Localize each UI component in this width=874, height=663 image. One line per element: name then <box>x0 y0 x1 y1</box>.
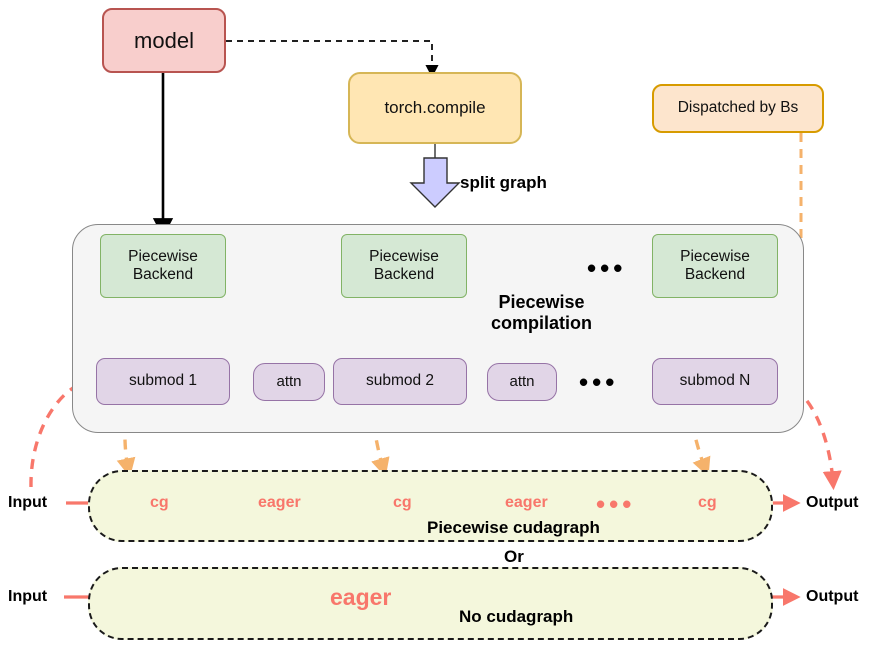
backend-n-line1: Piecewise <box>680 248 750 265</box>
attn-1-label: attn <box>276 373 301 391</box>
backend-1-line2: Backend <box>133 266 193 283</box>
piecewise-cudagraph-caption: Piecewise cudagraph <box>427 518 600 538</box>
dispatched-by-bs-label: Dispatched by Bs <box>678 99 799 117</box>
piecewise-backend-n[interactable]: Piecewise Backend <box>652 234 778 298</box>
eager-output-label: Output <box>806 588 858 606</box>
backend-n-line2: Backend <box>685 266 745 283</box>
piecewise-compilation-line2: compilation <box>491 313 592 333</box>
backend-1-line1: Piecewise <box>128 248 198 265</box>
cudagraph-step-eager-2: eager <box>505 494 548 512</box>
split-graph-arrow <box>411 158 459 207</box>
piecewise-compilation-line1: Piecewise <box>498 292 584 312</box>
model-label: model <box>134 28 194 54</box>
attn-1[interactable]: attn <box>253 363 325 401</box>
piecewise-backend-n-label: Piecewise Backend <box>680 248 750 285</box>
submod-2-label: submod 2 <box>366 372 434 390</box>
cudagraph-input-label: Input <box>8 494 47 512</box>
submod-n[interactable]: submod N <box>652 358 778 405</box>
submod-row-ellipsis: ••• <box>579 369 618 395</box>
no-cudagraph-box <box>88 567 773 640</box>
eager-input-label: Input <box>8 588 47 606</box>
backend-row-ellipsis: ••• <box>587 255 626 281</box>
submod-1-label: submod 1 <box>129 372 197 390</box>
piecewise-compilation-label: Piecewise compilation <box>491 292 592 334</box>
attn-2-label: attn <box>509 373 534 391</box>
backend-2-line2: Backend <box>374 266 434 283</box>
submod-1[interactable]: submod 1 <box>96 358 230 405</box>
dispatched-by-bs-node[interactable]: Dispatched by Bs <box>652 84 824 133</box>
cudagraph-step-cg-1: cg <box>150 494 169 512</box>
cudagraph-step-cg-n: cg <box>698 494 717 512</box>
split-graph-label: split graph <box>460 173 547 193</box>
edge-model-to-compile <box>226 41 432 72</box>
diagram-canvas: model torch.compile Dispatched by Bs spl… <box>0 0 874 663</box>
no-cudagraph-caption: No cudagraph <box>459 607 573 627</box>
cudagraph-row-ellipsis: ••• <box>596 491 635 517</box>
attn-2[interactable]: attn <box>487 363 557 401</box>
piecewise-backend-1[interactable]: Piecewise Backend <box>100 234 226 298</box>
submod-2[interactable]: submod 2 <box>333 358 467 405</box>
or-label: Or <box>504 547 524 567</box>
piecewise-backend-2[interactable]: Piecewise Backend <box>341 234 467 298</box>
model-node[interactable]: model <box>102 8 226 73</box>
eager-step-label: eager <box>330 584 391 611</box>
cudagraph-output-label: Output <box>806 494 858 512</box>
torch-compile-node[interactable]: torch.compile <box>348 72 522 144</box>
torch-compile-label: torch.compile <box>384 98 485 118</box>
piecewise-backend-2-label: Piecewise Backend <box>369 248 439 285</box>
piecewise-backend-1-label: Piecewise Backend <box>128 248 198 285</box>
backend-2-line1: Piecewise <box>369 248 439 265</box>
cudagraph-step-eager-1: eager <box>258 494 301 512</box>
submod-n-label: submod N <box>680 372 751 390</box>
cudagraph-step-cg-2: cg <box>393 494 412 512</box>
